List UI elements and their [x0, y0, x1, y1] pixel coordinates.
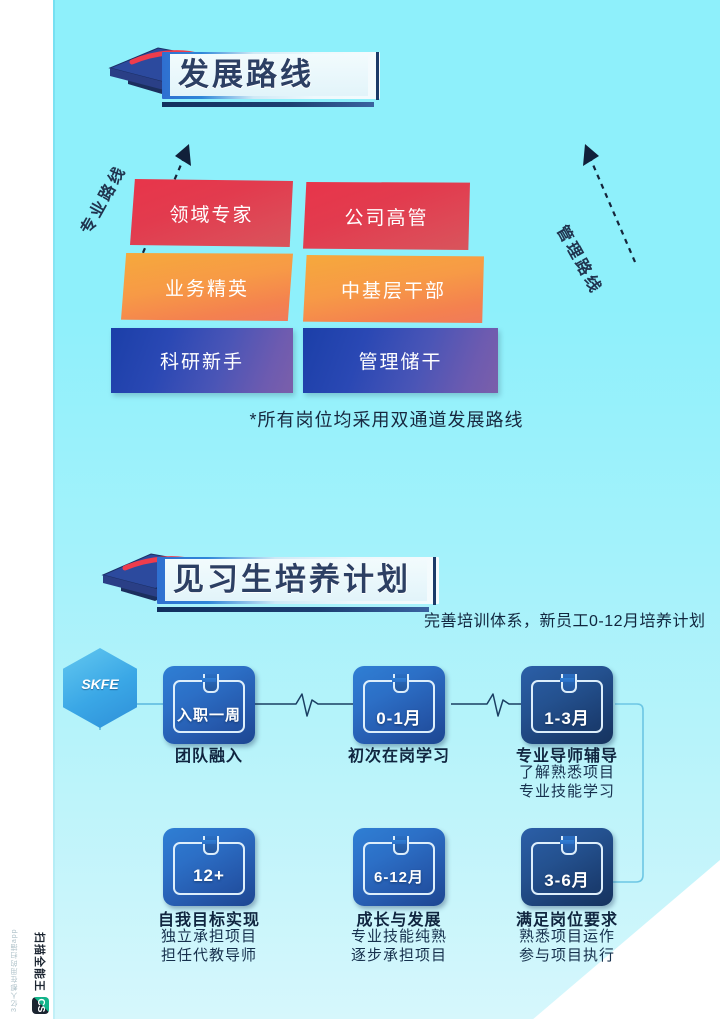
company-logo-badge: SKFE: [63, 648, 137, 728]
timeline-detail-3-line2: 专业技能学习: [495, 782, 639, 801]
timeline-title-1: 团队融入: [137, 742, 281, 766]
timeline-detail-4-line1: 熟悉项目运作: [495, 927, 639, 946]
professional-track-label: 专业路线: [73, 160, 131, 238]
camscanner-tagline: 3亿人都在用的扫描app: [10, 912, 24, 1012]
matrix-cell-label: 管理储干: [358, 347, 442, 374]
matrix-cell-label: 科研新手: [160, 347, 244, 374]
card-tab-cut: [202, 678, 216, 682]
card-badge-value: 入职一周: [163, 704, 255, 725]
timeline-card-2[interactable]: 0-1月: [353, 666, 445, 744]
matrix-cell-domain-expert[interactable]: 领域专家: [130, 179, 293, 247]
timeline-detail-5-line2: 逐步承担项目: [327, 946, 471, 965]
card-tab-cut: [560, 840, 574, 844]
matrix-cell-label: 中基层干部: [341, 276, 446, 303]
matrix-cell-middle-management[interactable]: 中基层干部: [303, 255, 484, 323]
timeline-card-1[interactable]: 入职一周: [163, 666, 255, 744]
section1-header: 发展路线: [100, 40, 380, 110]
card-tab-icon: [561, 836, 577, 855]
matrix-cell-research-novice[interactable]: 科研新手: [111, 328, 293, 393]
infographic-page: 发展路线 专业路线 管理路线 领域专家 公司高管 业务精英 中基层干部: [0, 0, 720, 1019]
card-tab-icon: [393, 674, 409, 693]
section2-header-tick: [433, 557, 436, 605]
timeline-title-2: 初次在岗学习: [327, 742, 471, 766]
card-tab-icon: [203, 836, 219, 855]
section1-title: 发展路线: [178, 53, 314, 97]
camscanner-badge: CS: [32, 997, 49, 1014]
card-tab-icon: [203, 674, 219, 693]
section1-header-tick: [376, 52, 379, 100]
card-tab-icon: [561, 674, 577, 693]
logo-text: SKFE: [63, 676, 137, 692]
timeline-detail-3-line1: 了解熟悉项目: [495, 763, 639, 782]
timeline-card-6[interactable]: 12+: [163, 828, 255, 906]
matrix-cell-management-trainee[interactable]: 管理储干: [303, 328, 498, 393]
section1-underline: [162, 102, 374, 107]
card-tab-cut: [392, 840, 406, 844]
card-badge-value: 1-3月: [521, 704, 613, 729]
section2-underline: [157, 607, 429, 612]
matrix-footnote: *所有岗位均采用双通道发展路线: [53, 406, 720, 432]
matrix-cell-label: 公司高管: [344, 203, 428, 230]
timeline-detail-5-line1: 专业技能纯熟: [327, 927, 471, 946]
matrix-cell-business-elite[interactable]: 业务精英: [121, 253, 293, 321]
matrix-cell-company-executive[interactable]: 公司高管: [303, 182, 470, 250]
card-tab-cut: [560, 678, 574, 682]
section2-subtitle: 完善培训体系，新员工0-12月培养计划: [424, 607, 706, 631]
timeline-detail-6-line1: 独立承担项目: [137, 927, 281, 946]
camscanner-watermark: CS 扫描全能王: [22, 906, 58, 1014]
matrix-cell-label: 领域专家: [169, 200, 253, 227]
card-tab-cut: [202, 840, 216, 844]
timeline-detail-4-line2: 参与项目执行: [495, 946, 639, 965]
timeline-card-5[interactable]: 6-12月: [353, 828, 445, 906]
timeline-card-3[interactable]: 1-3月: [521, 666, 613, 744]
card-tab-icon: [393, 836, 409, 855]
career-matrix: 专业路线 管理路线 领域专家 公司高管 业务精英 中基层干部 科研新手 管理储干: [53, 140, 720, 420]
timeline-card-4[interactable]: 3-6月: [521, 828, 613, 906]
timeline-detail-6-line2: 担任代教导师: [137, 946, 281, 965]
card-badge-value: 6-12月: [353, 866, 445, 887]
camscanner-text: 扫描全能王: [32, 932, 48, 992]
section2-header: 见习生培养计划: [95, 545, 440, 615]
card-tab-cut: [392, 678, 406, 682]
card-badge-value: 12+: [163, 866, 255, 886]
section2-title: 见习生培养计划: [173, 558, 411, 602]
card-badge-value: 0-1月: [353, 704, 445, 729]
matrix-cell-label: 业务精英: [165, 274, 249, 301]
card-badge-value: 3-6月: [521, 866, 613, 891]
